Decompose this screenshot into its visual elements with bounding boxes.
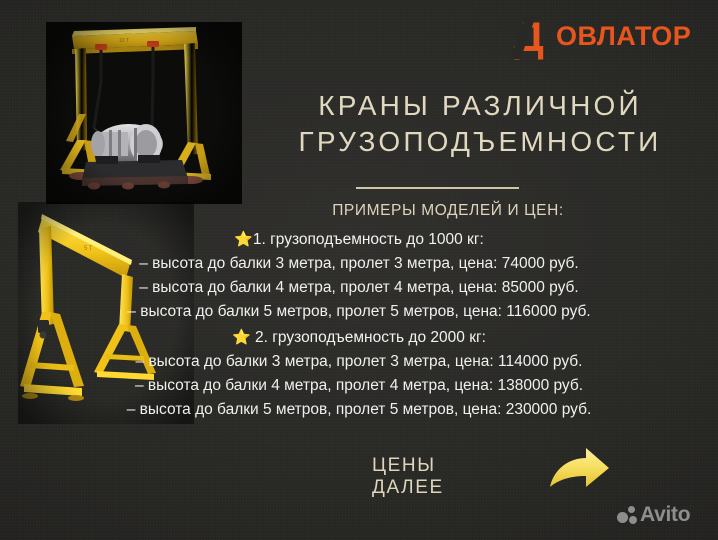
crane-top-image: 10 T bbox=[46, 22, 242, 204]
page-title: КРАНЫ РАЗЛИЧНОЙ ГРУЗОПОДЪЕМНОСТИ bbox=[258, 88, 702, 160]
logo-wordmark: ОВЛАТОР bbox=[556, 21, 691, 51]
price-group-1-heading: ⭐1. грузоподъемность до 1000 кг: bbox=[0, 228, 718, 252]
avito-dot-icon bbox=[617, 512, 628, 523]
right-arrow-icon bbox=[548, 442, 612, 494]
price-line: – высота до балки 3 метра, пролет 3 метр… bbox=[0, 252, 718, 276]
brand-logo[interactable]: Д ОВЛАТОР bbox=[512, 18, 694, 60]
price-group-1: ⭐1. грузоподъемность до 1000 кг: – высот… bbox=[0, 228, 718, 324]
price-group-2: ⭐ 2. грузоподъемность до 2000 кг: – высо… bbox=[0, 326, 718, 422]
subheading: ПРИМЕРЫ МОДЕЛЕЙ И ЦЕН: bbox=[238, 202, 658, 220]
star-icon: ⭐ bbox=[232, 329, 251, 346]
avito-watermark: Avito bbox=[616, 503, 708, 529]
avito-dot-icon bbox=[628, 506, 635, 513]
price-line: – высота до балки 5 метров, пролет 5 мет… bbox=[0, 398, 718, 422]
price-line: – высота до балки 4 метра, пролет 4 метр… bbox=[0, 374, 718, 398]
price-line: – высота до балки 4 метра, пролет 4 метр… bbox=[0, 276, 718, 300]
star-icon: ⭐ bbox=[234, 231, 253, 248]
avito-label: Avito bbox=[640, 503, 690, 527]
avito-dot-icon bbox=[629, 516, 637, 524]
title-line-1: КРАНЫ РАЗЛИЧНОЙ bbox=[318, 90, 642, 121]
title-line-2: ГРУЗОПОДЪЕМНОСТИ bbox=[258, 124, 702, 160]
cta-label: ЦЕНЫ ДАЛЕЕ bbox=[372, 455, 444, 499]
title-divider bbox=[356, 187, 519, 189]
price-group-2-title: 2. грузоподъемность до 2000 кг: bbox=[255, 329, 486, 346]
price-group-1-title: 1. грузоподъемность до 1000 кг: bbox=[253, 231, 484, 248]
poster-canvas: 10 T bbox=[0, 0, 718, 540]
price-line: – высота до балки 3 метра, пролет 3 метр… bbox=[0, 350, 718, 374]
price-line: – высота до балки 5 метров, пролет 5 мет… bbox=[0, 300, 718, 324]
price-group-2-heading: ⭐ 2. грузоподъемность до 2000 кг: bbox=[0, 326, 718, 350]
